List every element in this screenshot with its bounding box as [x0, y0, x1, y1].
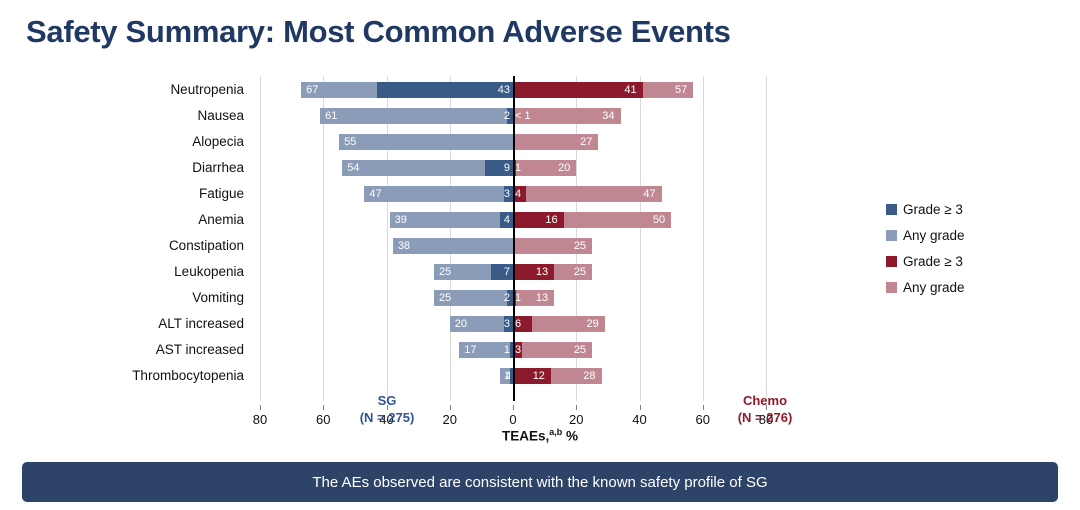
- bar-chemo-any-grade: 20: [513, 160, 576, 176]
- bar-chemo-any-grade: 27: [513, 134, 598, 150]
- bar-value-label: 54: [347, 160, 359, 176]
- x-axis-tick: [640, 405, 641, 410]
- group-caption-sg: SG (N = 275): [332, 392, 442, 426]
- legend-item-label: Any grade: [903, 280, 965, 295]
- bar-chemo-grade3: 41: [513, 82, 643, 98]
- summary-banner: The AEs observed are consistent with the…: [22, 462, 1058, 502]
- bar-sg-any-grade: 61: [320, 108, 513, 124]
- legend-swatch-icon: [886, 204, 897, 215]
- x-axis-tick: [513, 405, 514, 410]
- x-axis-tick-label: 40: [620, 412, 660, 427]
- bar-chemo-any-grade: 25: [513, 238, 592, 254]
- bar-value-label: 25: [439, 290, 451, 306]
- bar-sg-any-grade: 55: [339, 134, 513, 150]
- chart-legend: Grade ≥ 3Any gradeGrade ≥ 3Any grade: [886, 196, 1066, 300]
- bar-value-label: 20: [455, 316, 467, 332]
- bar-value-label: 9: [504, 160, 510, 176]
- group-caption-chemo-n: (N = 276): [700, 409, 830, 426]
- bar-chemo-grade3: 13: [513, 264, 554, 280]
- bar-value-label: 3: [504, 186, 510, 202]
- bar-value-label: 1: [504, 342, 510, 358]
- bar-value-label: 57: [675, 82, 687, 98]
- bar-chemo-any-grade: 47: [513, 186, 662, 202]
- category-label: Thrombocytopenia: [0, 363, 244, 389]
- category-label: Leukopenia: [0, 259, 244, 285]
- bar-value-label: 29: [586, 316, 598, 332]
- bar-sg-grade3: 43: [377, 82, 513, 98]
- x-axis-tick-label: 80: [240, 412, 280, 427]
- bar-sg-grade3: 4: [500, 212, 513, 228]
- bar-value-label: 55: [344, 134, 356, 150]
- bar-value-label: 25: [574, 342, 586, 358]
- bar-chemo-any-grade: 25: [513, 342, 592, 358]
- x-axis-title-main: TEAEs,: [502, 429, 549, 444]
- category-label: ALT increased: [0, 311, 244, 337]
- category-label: Constipation: [0, 233, 244, 259]
- bar-value-label: 47: [369, 186, 381, 202]
- category-label: Anemia: [0, 207, 244, 233]
- bar-value-label: 25: [574, 238, 586, 254]
- category-label: Nausea: [0, 103, 244, 129]
- legend-item-label: Grade ≥ 3: [903, 202, 963, 217]
- bar-value-label: 13: [536, 264, 548, 280]
- bar-value-label: 16: [545, 212, 557, 228]
- bar-value-label: 38: [398, 238, 410, 254]
- bar-sg-any-grade: 39: [390, 212, 513, 228]
- bar-value-label: 25: [574, 264, 586, 280]
- bar-value-label: 2: [504, 108, 510, 124]
- bar-value-label: 7: [504, 264, 510, 280]
- legend-swatch-icon: [886, 282, 897, 293]
- bar-value-label: 1: [504, 368, 510, 384]
- x-axis-tick-label: 0: [493, 412, 533, 427]
- plot-area: Neutropenia67435741Nausea61234< 1Alopeci…: [260, 76, 766, 401]
- legend-item[interactable]: Grade ≥ 3: [886, 248, 1066, 274]
- gridline: [766, 76, 767, 401]
- group-caption-chemo: Chemo (N = 276): [700, 392, 830, 426]
- legend-item[interactable]: Any grade: [886, 222, 1066, 248]
- group-caption-sg-n: (N = 275): [332, 409, 442, 426]
- bar-chemo-grade3: 16: [513, 212, 564, 228]
- bar-value-label: 2: [504, 290, 510, 306]
- zero-axis-line: [513, 76, 515, 401]
- bar-sg-any-grade: 47: [364, 186, 513, 202]
- bar-value-label: 25: [439, 264, 451, 280]
- x-axis-tick: [260, 405, 261, 410]
- legend-item[interactable]: Any grade: [886, 274, 1066, 300]
- bar-value-label: 50: [653, 212, 665, 228]
- category-label: Neutropenia: [0, 77, 244, 103]
- bar-value-label: 1: [515, 290, 521, 306]
- bar-value-label: 39: [395, 212, 407, 228]
- category-label: Vomiting: [0, 285, 244, 311]
- bar-value-label: 20: [558, 160, 570, 176]
- x-axis-tick-label: 20: [556, 412, 596, 427]
- bar-chemo-grade3: 4: [513, 186, 526, 202]
- bar-sg-any-grade: 25: [434, 290, 513, 306]
- bar-sg-grade3: 7: [491, 264, 513, 280]
- bar-value-label: 41: [624, 82, 636, 98]
- summary-banner-text: The AEs observed are consistent with the…: [312, 474, 767, 491]
- group-caption-chemo-name: Chemo: [700, 392, 830, 409]
- bar-sg-any-grade: 38: [393, 238, 513, 254]
- bar-sg-grade3: 3: [504, 186, 513, 202]
- bar-value-label: 61: [325, 108, 337, 124]
- bar-value-label: < 1: [515, 108, 531, 124]
- category-label: Fatigue: [0, 181, 244, 207]
- bar-value-label: 13: [536, 290, 548, 306]
- legend-swatch-icon: [886, 230, 897, 241]
- bar-value-label: 4: [515, 186, 521, 202]
- category-label: Alopecia: [0, 129, 244, 155]
- group-caption-sg-name: SG: [332, 392, 442, 409]
- category-label: AST increased: [0, 337, 244, 363]
- page-title: Safety Summary: Most Common Adverse Even…: [26, 14, 1026, 50]
- legend-swatch-icon: [886, 256, 897, 267]
- bar-chemo-grade3: 12: [513, 368, 551, 384]
- bar-sg-grade3: 9: [485, 160, 513, 176]
- bar-value-label: 3: [515, 342, 521, 358]
- x-axis-tick: [323, 405, 324, 410]
- bar-value-label: 28: [583, 368, 595, 384]
- bar-value-label: 17: [464, 342, 476, 358]
- bar-value-label: 34: [602, 108, 614, 124]
- x-axis-title-superscript: a,b: [549, 427, 562, 437]
- x-axis-title: TEAEs,a,b %: [0, 427, 1080, 444]
- legend-item-label: Any grade: [903, 228, 965, 243]
- bar-chemo-grade3: 6: [513, 316, 532, 332]
- x-axis-tick: [450, 405, 451, 410]
- bar-value-label: 12: [533, 368, 545, 384]
- bar-value-label: 47: [643, 186, 655, 202]
- bar-value-label: 3: [504, 316, 510, 332]
- bar-value-label: 27: [580, 134, 592, 150]
- bar-value-label: 4: [504, 212, 510, 228]
- bar-sg-grade3: 3: [504, 316, 513, 332]
- legend-item[interactable]: Grade ≥ 3: [886, 196, 1066, 222]
- bar-value-label: 1: [515, 160, 521, 176]
- legend-item-label: Grade ≥ 3: [903, 254, 963, 269]
- bar-value-label: 67: [306, 82, 318, 98]
- x-axis-tick: [576, 405, 577, 410]
- category-label: Diarrhea: [0, 155, 244, 181]
- slide-root: Safety Summary: Most Common Adverse Even…: [0, 0, 1080, 510]
- bar-value-label: 6: [515, 316, 521, 332]
- x-axis-title-unit: %: [566, 429, 578, 444]
- bar-value-label: 43: [498, 82, 510, 98]
